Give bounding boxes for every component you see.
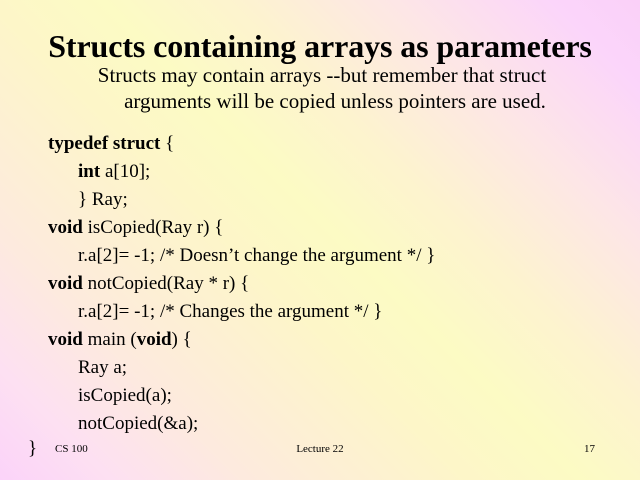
- footer-page-number: 17: [584, 442, 595, 456]
- code-text: ) {: [172, 329, 192, 350]
- code-text: notCopied(Ray * r) {: [83, 273, 249, 294]
- code-text: isCopied(a);: [78, 385, 172, 406]
- code-text: isCopied(Ray r) {: [83, 217, 224, 238]
- code-keyword: void: [48, 329, 83, 350]
- body-line-1: Structs may contain arrays --but remembe…: [98, 63, 546, 87]
- code-line: void notCopied(Ray * r) {: [48, 270, 618, 298]
- code-text: {: [160, 133, 174, 154]
- code-keyword: typedef struct: [48, 133, 160, 154]
- code-text: a[10];: [100, 161, 150, 182]
- code-line: void main (void) {: [48, 326, 618, 354]
- code-text: Ray a;: [78, 357, 127, 378]
- code-text: r.a[2]= -1; /* Doesn’t change the argume…: [78, 245, 435, 266]
- code-line: notCopied(&a);: [48, 410, 618, 438]
- code-line: Ray a;: [48, 354, 618, 382]
- code-keyword: void: [137, 329, 172, 350]
- code-keyword: int: [78, 161, 100, 182]
- slide-title: Structs containing arrays as parameters: [0, 27, 640, 65]
- code-line: } Ray;: [48, 186, 618, 214]
- code-line: r.a[2]= -1; /* Changes the argument */ }: [48, 298, 618, 326]
- code-text: notCopied(&a);: [78, 413, 198, 434]
- code-keyword: void: [48, 217, 83, 238]
- code-line: isCopied(a);: [48, 382, 618, 410]
- slide-footer: CS 100 Lecture 22 17: [0, 442, 640, 460]
- code-listing: typedef struct {int a[10];} Ray;void isC…: [48, 130, 618, 438]
- slide-body-paragraph: Structs may contain arrays --but remembe…: [22, 62, 622, 114]
- footer-lecture-label: Lecture 22: [0, 442, 640, 456]
- body-line-2: arguments will be copied unless pointers…: [22, 88, 622, 114]
- code-line: typedef struct {: [48, 130, 618, 158]
- slide-canvas: Structs containing arrays as parameters …: [0, 0, 640, 480]
- code-line: r.a[2]= -1; /* Doesn’t change the argume…: [48, 242, 618, 270]
- code-line: void isCopied(Ray r) {: [48, 214, 618, 242]
- code-keyword: void: [48, 273, 83, 294]
- code-line: int a[10];: [48, 158, 618, 186]
- code-text: r.a[2]= -1; /* Changes the argument */ }: [78, 301, 382, 322]
- code-text: main (: [83, 329, 137, 350]
- code-text: } Ray;: [78, 189, 128, 210]
